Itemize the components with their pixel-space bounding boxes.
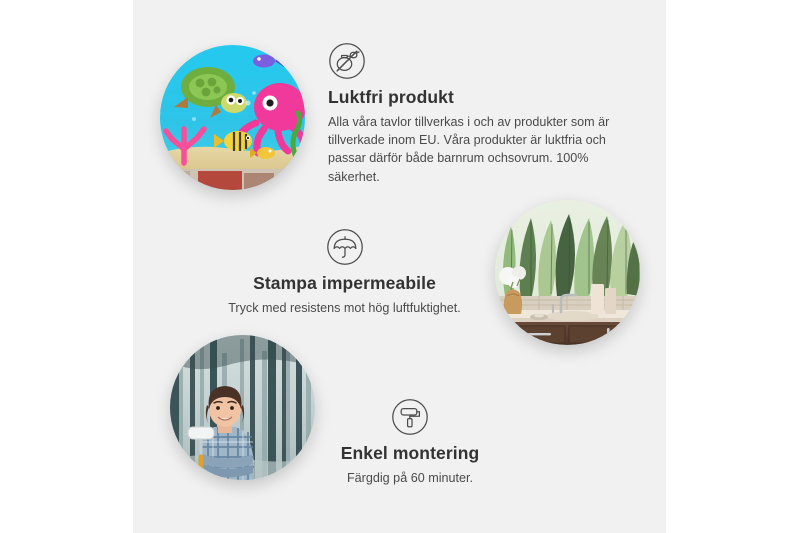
no-odour-perfume-bottle-icon <box>328 42 366 80</box>
feature-text-1: Luktfri produkt Alla våra tavlor tillver… <box>328 42 628 186</box>
promo-banner: Luktfri produkt Alla våra tavlor tillver… <box>0 0 800 533</box>
feature-body-1: Alla våra tavlor tillverkas i och av pro… <box>328 113 628 186</box>
feature-heading-1: Luktfri produkt <box>328 87 628 109</box>
feature-body-2: Tryck med resistens mot hög luftfuktighe… <box>212 299 477 317</box>
feature-heading-3: Enkel montering <box>310 443 510 465</box>
feature-text-2: Stampa impermeabile Tryck med resistens … <box>212 228 477 317</box>
underwater-cartoon-mural-photo <box>160 45 305 190</box>
feature-heading-2: Stampa impermeabile <box>212 273 477 295</box>
paint-roller-icon <box>391 398 429 436</box>
umbrella-icon <box>326 228 364 266</box>
feature-text-3: Enkel montering Färgdig på 60 minuter. <box>310 398 510 487</box>
bathroom-vanity-leaf-wallpaper-photo <box>495 200 640 345</box>
woman-with-paint-roller-forest-photo <box>170 335 315 480</box>
feature-body-3: Färgdig på 60 minuter. <box>310 469 510 487</box>
